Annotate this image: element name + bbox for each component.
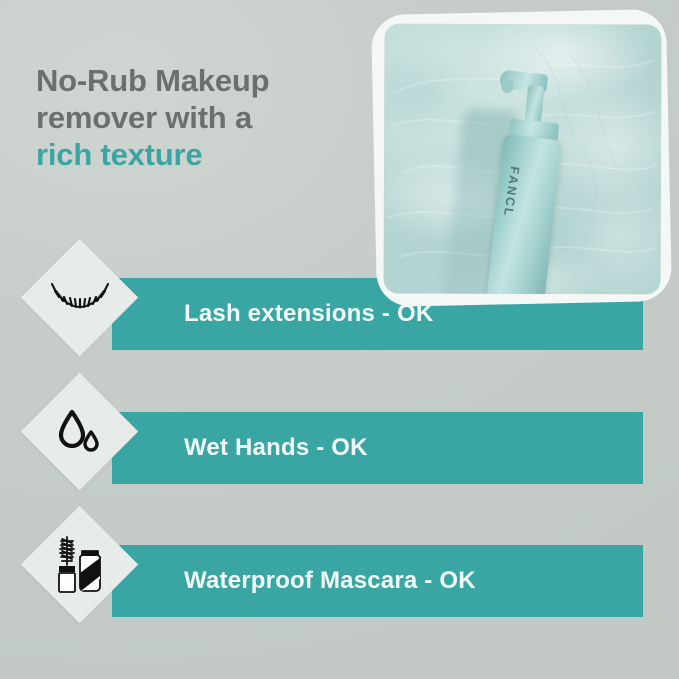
feature-row: Wet Hands - OK: [0, 388, 679, 508]
diamond-shape: [21, 239, 138, 356]
diamond-shape: [21, 373, 138, 490]
product-photo-image: FANCL: [384, 24, 662, 295]
product-feature-infographic: No-Rub Makeup remover with a rich textur…: [0, 0, 679, 679]
product-photo-panel: FANCL: [371, 9, 672, 307]
feature-icon-badge: [0, 388, 160, 508]
feature-icon-badge: [0, 521, 160, 641]
feature-row: Waterproof Mascara - OK: [0, 521, 679, 641]
headline-line-1: No-Rub Makeup: [36, 62, 366, 99]
feature-label: Waterproof Mascara - OK: [184, 545, 476, 617]
headline-line-2: remover with a: [36, 99, 366, 136]
feature-label: Wet Hands - OK: [184, 412, 368, 484]
diamond-shape: [21, 506, 138, 623]
headline-line-3-accent: rich texture: [36, 136, 366, 173]
feature-bar: Waterproof Mascara - OK: [112, 545, 643, 617]
feature-icon-badge: [0, 254, 160, 374]
feature-bar: Wet Hands - OK: [112, 412, 643, 484]
page-title: No-Rub Makeup remover with a rich textur…: [36, 62, 366, 173]
